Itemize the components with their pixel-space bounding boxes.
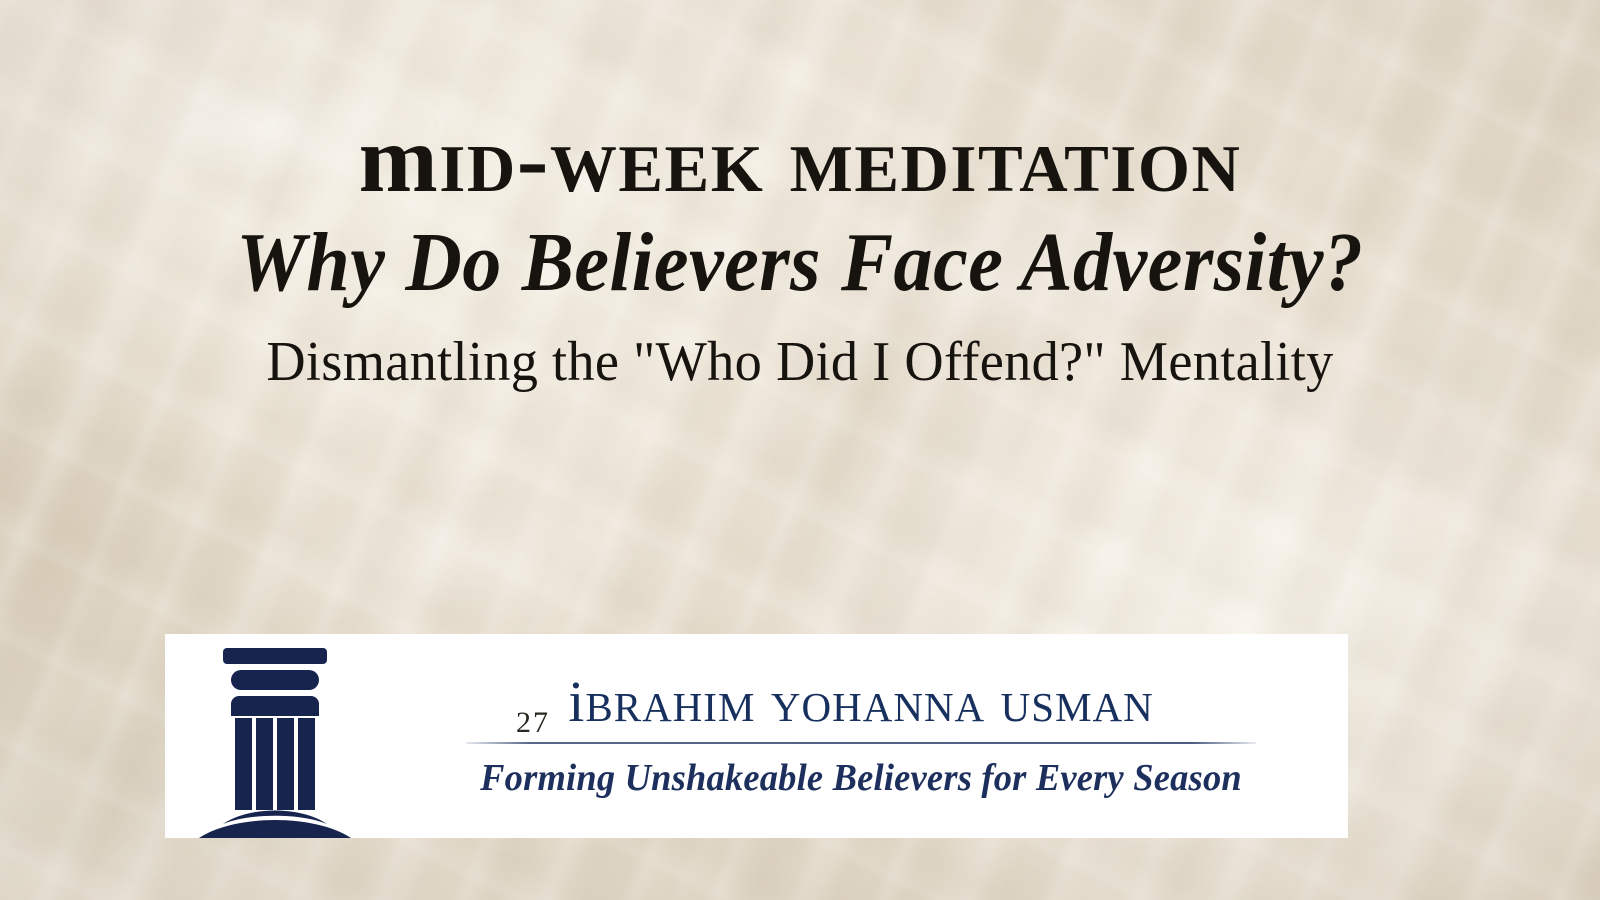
brand-logo-card: Ibrahim Yohanna Usman Forming Unshakeabl… [165, 634, 1348, 838]
presentation-slide: Mid-week Meditation Why Do Believers Fac… [0, 0, 1600, 900]
brand-tagline: Forming Unshakeable Believers for Every … [407, 758, 1315, 800]
pillar-column-icon [165, 634, 380, 838]
slide-number: 27 [516, 706, 550, 740]
slide-kicker-text: Dismantling the "Who Did I Offend?" Ment… [24, 323, 1576, 403]
slide-text-block: Mid-week Meditation Why Do Believers Fac… [0, 112, 1600, 402]
slide-subheading: Why Do Believers Face Adversity? [56, 215, 1544, 311]
slide-headline: Mid-week Meditation [0, 112, 1600, 207]
brand-divider-rule [466, 742, 1256, 744]
